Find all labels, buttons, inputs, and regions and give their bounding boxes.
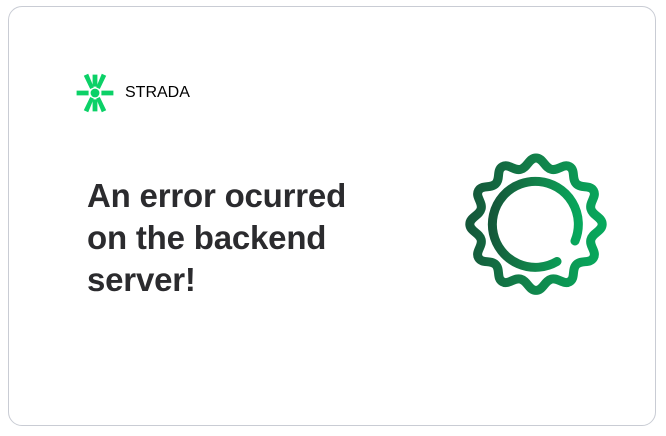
gear-icon <box>453 145 619 315</box>
error-message-text: An error ocurred on the backend server! <box>87 175 387 301</box>
brand-lockup: STRADA <box>75 73 190 113</box>
error-card: STRADA An error ocurred on the backend s… <box>8 6 656 426</box>
strada-asterisk-icon <box>75 73 115 113</box>
brand-wordmark: STRADA <box>125 84 190 102</box>
